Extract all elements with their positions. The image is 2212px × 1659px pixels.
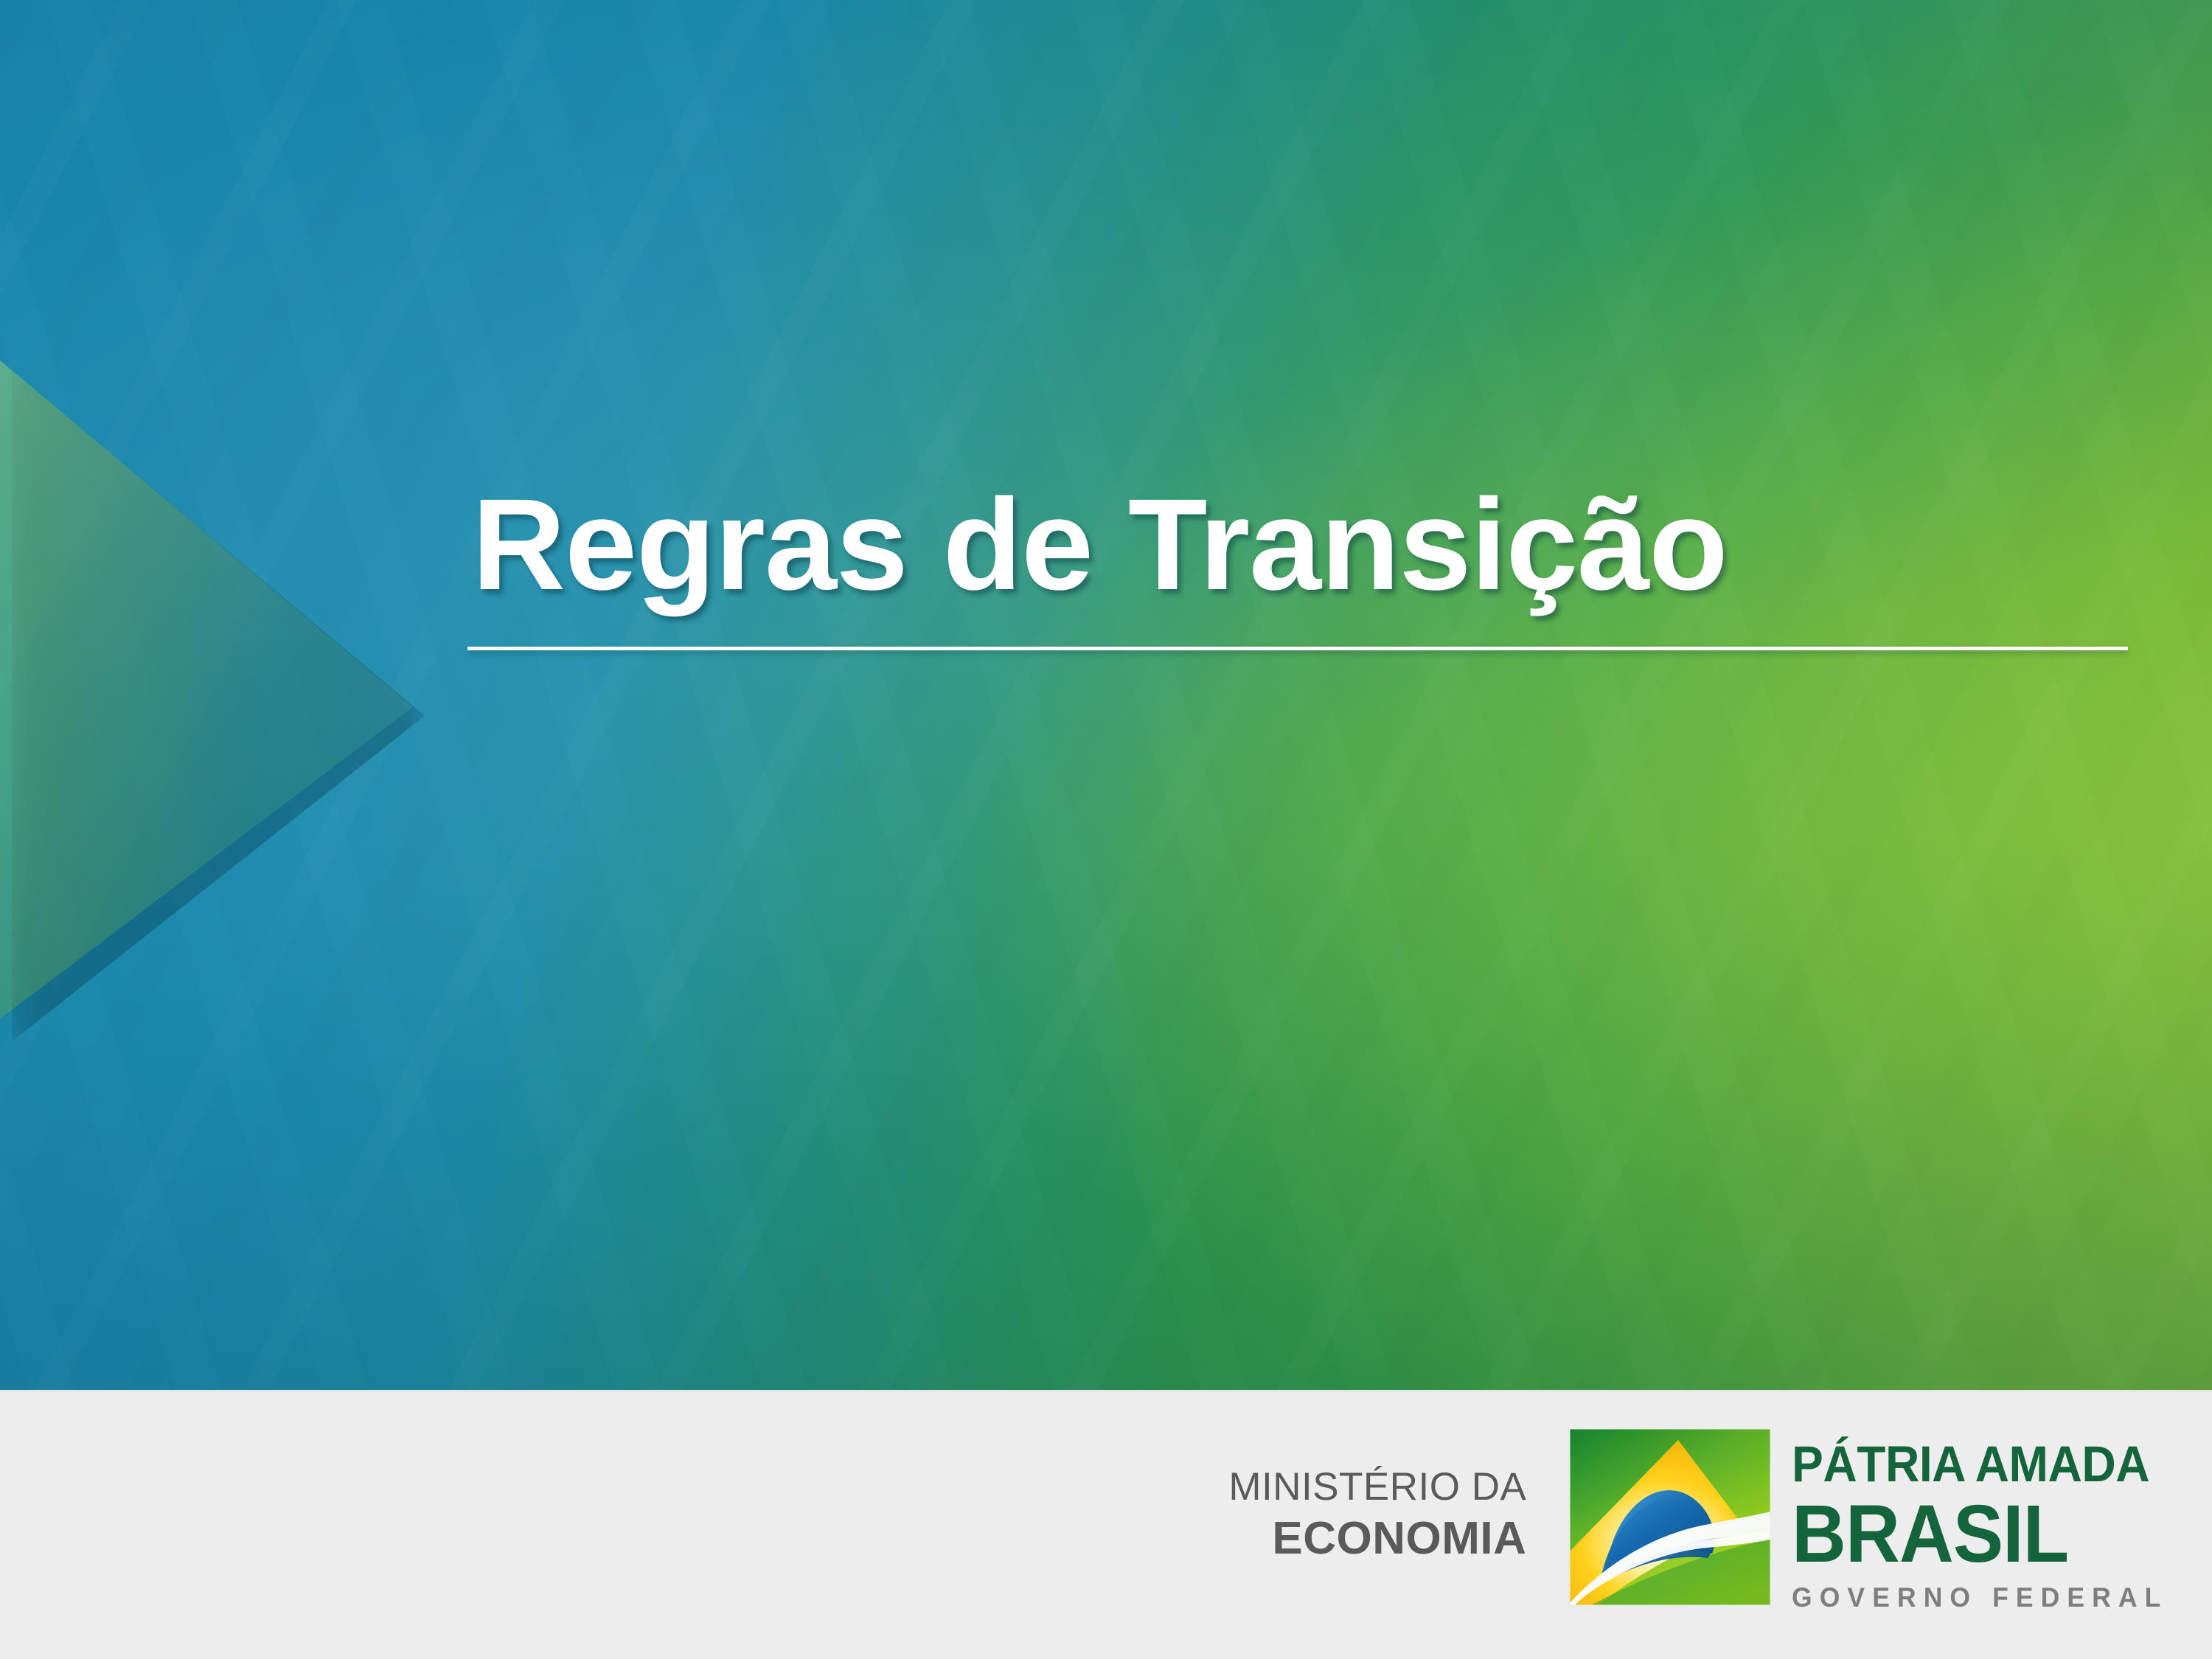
patria-amada-brasil-logo: PÁTRIA AMADA BRASIL GOVERNO FEDERAL bbox=[1568, 1427, 2184, 1627]
presentation-slide: Regras de Transição MINISTÉRIO DA ECONOM… bbox=[0, 0, 2212, 1659]
ministry-logo-line1: MINISTÉRIO DA bbox=[1228, 1467, 1526, 1506]
slide-footer: MINISTÉRIO DA ECONOMIA bbox=[0, 1390, 2212, 1659]
slide-title: Regras de Transição bbox=[472, 476, 2131, 614]
brand-line-governo-federal: GOVERNO FEDERAL bbox=[1792, 1584, 2168, 1611]
footer-logos: MINISTÉRIO DA ECONOMIA bbox=[1228, 1392, 2184, 1659]
brand-line-patria-amada: PÁTRIA AMADA bbox=[1792, 1439, 2156, 1489]
ministry-logo: MINISTÉRIO DA ECONOMIA bbox=[1228, 1467, 1526, 1587]
chevron-highlight bbox=[0, 347, 413, 1040]
title-block: Regras de Transição bbox=[472, 476, 2131, 650]
brand-wordmark: PÁTRIA AMADA BRASIL GOVERNO FEDERAL bbox=[1792, 1439, 2184, 1611]
brand-line-brasil: BRASIL bbox=[1792, 1494, 2156, 1575]
chevron-decoration bbox=[0, 347, 413, 1040]
slide-background: Regras de Transição bbox=[0, 0, 2212, 1390]
title-underline-rule bbox=[467, 647, 2128, 650]
brazil-flag-emblem bbox=[1568, 1427, 1773, 1622]
ministry-logo-line2: ECONOMIA bbox=[1272, 1516, 1526, 1562]
